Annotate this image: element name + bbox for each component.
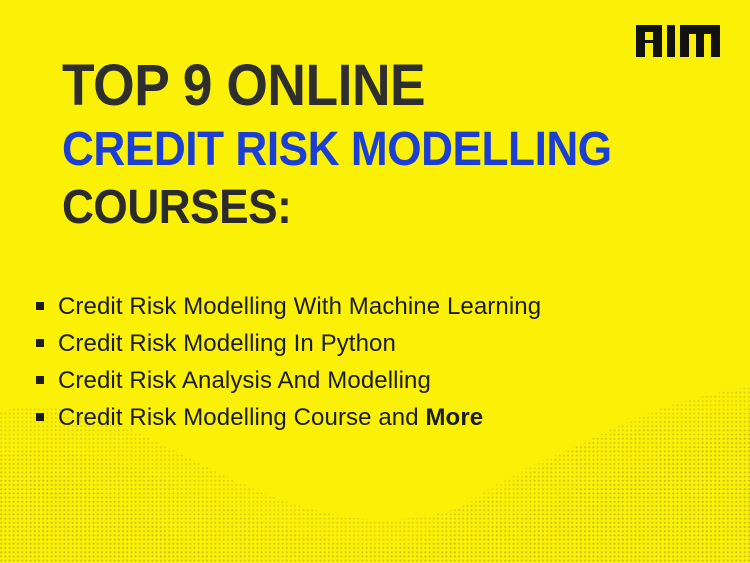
list-item: Credit Risk Analysis And Modelling <box>36 369 696 406</box>
course-text-plain: Credit Risk Modelling Course and <box>58 404 425 431</box>
list-item: Credit Risk Modelling Course and More <box>36 406 696 443</box>
poster-canvas: TOP 9 ONLINE CREDIT RISK MODELLING COURS… <box>0 0 750 563</box>
headline-line-3: COURSES: <box>62 184 651 231</box>
course-text-emphasis: More <box>425 404 483 431</box>
bullet-square-icon <box>36 413 44 421</box>
list-item: Credit Risk Modelling With Machine Learn… <box>36 295 696 332</box>
course-text-plain: Credit Risk Analysis And Modelling <box>58 367 431 394</box>
course-label: Credit Risk Analysis And Modelling <box>58 369 431 393</box>
bullet-square-icon <box>36 302 44 310</box>
headline-line-2: CREDIT RISK MODELLING <box>62 126 651 173</box>
course-list: Credit Risk Modelling With Machine Learn… <box>36 295 696 443</box>
course-text-plain: Credit Risk Modelling With Machine Learn… <box>58 293 541 320</box>
list-item: Credit Risk Modelling In Python <box>36 332 696 369</box>
bullet-square-icon <box>36 339 44 347</box>
course-label: Credit Risk Modelling Course and More <box>58 406 483 430</box>
course-label: Credit Risk Modelling In Python <box>58 332 396 356</box>
course-label: Credit Risk Modelling With Machine Learn… <box>58 295 541 319</box>
aim-logo <box>636 21 720 57</box>
headline-line-1: TOP 9 ONLINE <box>62 58 651 115</box>
course-text-plain: Credit Risk Modelling In Python <box>58 330 396 357</box>
headline-block: TOP 9 ONLINE CREDIT RISK MODELLING COURS… <box>62 58 702 231</box>
bullet-square-icon <box>36 376 44 384</box>
